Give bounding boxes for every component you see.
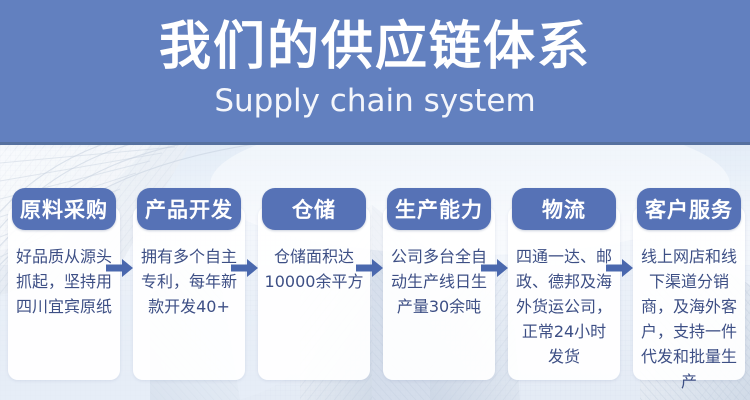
stage-card-header: 原料采购 bbox=[12, 188, 116, 230]
stage-card-text: 公司多台全自动生产线日生产量30余吨 bbox=[389, 244, 489, 319]
stage-card-title: 客户服务 bbox=[645, 194, 733, 224]
stage-card-text: 线上网店和线下渠道分销商，及海外客户，支持一件代发和批量生产 bbox=[639, 244, 739, 394]
stage-card-title: 原料采购 bbox=[20, 194, 108, 224]
arrow-right-icon bbox=[481, 258, 509, 278]
page-title-en: Supply chain system bbox=[0, 83, 750, 119]
page-title-cn: 我们的供应链体系 bbox=[0, 16, 750, 78]
stage-card-header: 客户服务 bbox=[637, 188, 741, 230]
arrow-right-icon bbox=[606, 258, 634, 278]
stage-card-header: 产品开发 bbox=[137, 188, 241, 230]
stage-card-2[interactable]: 产品开发 拥有多个自主专利，每年新款开发40+ bbox=[133, 188, 245, 380]
stage-card-3[interactable]: 仓储 仓储面积达10000余平方 bbox=[258, 188, 370, 380]
stage-card-title: 物流 bbox=[542, 194, 586, 224]
stage-card-text: 四通一达、邮政、德邦及海外货运公司，正常24小时发货 bbox=[514, 244, 614, 369]
stage-card-text: 拥有多个自主专利，每年新款开发40+ bbox=[139, 244, 239, 319]
stage-card-text: 仓储面积达10000余平方 bbox=[264, 244, 364, 294]
stage-card-title: 生产能力 bbox=[395, 194, 483, 224]
stage-card-text: 好品质从源头抓起，坚持用四川宜宾原纸 bbox=[14, 244, 114, 319]
arrow-right-icon bbox=[106, 258, 134, 278]
header-banner: 我们的供应链体系 Supply chain system bbox=[0, 0, 750, 145]
stage-card-1[interactable]: 原料采购 好品质从源头抓起，坚持用四川宜宾原纸 bbox=[8, 188, 120, 380]
stage-card-5[interactable]: 物流 四通一达、邮政、德邦及海外货运公司，正常24小时发货 bbox=[508, 188, 620, 380]
stage-card-title: 产品开发 bbox=[145, 194, 233, 224]
stage-card-title: 仓储 bbox=[292, 194, 336, 224]
stage-card-header: 仓储 bbox=[262, 188, 366, 230]
supply-chain-infographic: 我们的供应链体系 Supply chain system bbox=[0, 0, 750, 400]
stage-card-header: 物流 bbox=[512, 188, 616, 230]
arrow-right-icon bbox=[231, 258, 259, 278]
stage-card-header: 生产能力 bbox=[387, 188, 491, 230]
stage-card-6[interactable]: 客户服务 线上网店和线下渠道分销商，及海外客户，支持一件代发和批量生产 bbox=[633, 188, 745, 380]
stage-card-4[interactable]: 生产能力 公司多台全自动生产线日生产量30余吨 bbox=[383, 188, 495, 380]
arrow-right-icon bbox=[356, 258, 384, 278]
